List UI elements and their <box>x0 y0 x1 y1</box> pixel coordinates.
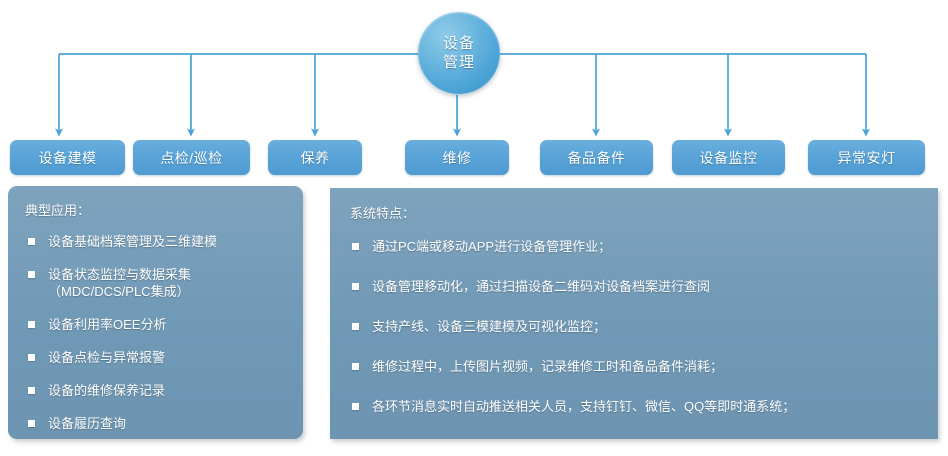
system-features-panel: 系统特点： 通过PC端或移动APP进行设备管理作业； 设备管理移动化，通过扫描设… <box>330 188 938 439</box>
list-item-label: 设备基础档案管理及三维建模 <box>48 233 217 250</box>
list-item-label: 设备管理移动化，通过扫描设备二维码对设备档案进行查阅 <box>372 278 710 295</box>
list-item-label: 设备点检与异常报警 <box>48 349 165 366</box>
list-item-label: 通过PC端或移动APP进行设备管理作业； <box>372 238 611 255</box>
list-item: 设备点检与异常报警 <box>20 349 291 366</box>
module-box-equipment-modeling[interactable]: 设备建模 <box>10 140 125 175</box>
module-label: 设备建模 <box>39 148 97 168</box>
list-item-label: 维修过程中，上传图片视频，记录维修工时和备品备件消耗； <box>372 358 723 375</box>
hub-label-line-1: 设备 <box>443 34 475 53</box>
square-bullet-icon <box>28 271 35 278</box>
module-box-maintenance-upkeep[interactable]: 保养 <box>268 140 362 175</box>
module-label: 备品备件 <box>568 148 626 168</box>
square-bullet-icon <box>28 387 35 394</box>
module-box-spare-parts[interactable]: 备品备件 <box>540 140 653 175</box>
list-item: 各环节消息实时自动推送相关人员，支持钉钉、微信、QQ等即时通系统； <box>346 398 924 415</box>
module-box-inspection[interactable]: 点检/巡检 <box>133 140 250 175</box>
typical-applications-list: 设备基础档案管理及三维建模 设备状态监控与数据采集 （MDC/DCS/PLC集成… <box>20 233 291 432</box>
square-bullet-icon <box>352 243 359 250</box>
list-item-label: 设备的维修保养记录 <box>48 382 165 399</box>
module-label: 设备监控 <box>700 148 758 168</box>
list-item: 设备基础档案管理及三维建模 <box>20 233 291 250</box>
square-bullet-icon <box>28 321 35 328</box>
module-label: 异常安灯 <box>838 148 896 168</box>
module-label: 维修 <box>443 148 472 168</box>
list-item: 支持产线、设备三模建模及可视化监控； <box>346 318 924 335</box>
module-label: 点检/巡检 <box>160 148 222 168</box>
list-item: 设备状态监控与数据采集 （MDC/DCS/PLC集成） <box>20 266 291 300</box>
list-item-label: 设备利用率OEE分析 <box>48 316 166 333</box>
list-item-label: 各环节消息实时自动推送相关人员，支持钉钉、微信、QQ等即时通系统； <box>372 398 795 415</box>
square-bullet-icon <box>28 238 35 245</box>
list-item: 通过PC端或移动APP进行设备管理作业； <box>346 238 924 255</box>
hub-label-line-2: 管理 <box>443 53 475 72</box>
module-box-equipment-monitoring[interactable]: 设备监控 <box>672 140 785 175</box>
module-box-andon-alarm[interactable]: 异常安灯 <box>808 140 925 175</box>
list-item: 维修过程中，上传图片视频，记录维修工时和备品备件消耗； <box>346 358 924 375</box>
square-bullet-icon <box>352 283 359 290</box>
equipment-management-diagram: 设备 管理 设备建模 点检/巡检 保养 维修 备品备件 设备监控 异常安灯 典型… <box>0 0 948 456</box>
list-item: 设备履历查询 <box>20 415 291 432</box>
panel-title: 系统特点： <box>350 203 924 222</box>
square-bullet-icon <box>352 323 359 330</box>
square-bullet-icon <box>28 420 35 427</box>
system-features-list: 通过PC端或移动APP进行设备管理作业； 设备管理移动化，通过扫描设备二维码对设… <box>346 238 924 415</box>
module-box-repair[interactable]: 维修 <box>405 140 509 175</box>
list-item-label: 支持产线、设备三模建模及可视化监控； <box>372 318 606 335</box>
panel-title: 典型应用： <box>25 200 291 219</box>
typical-applications-panel: 典型应用： 设备基础档案管理及三维建模 设备状态监控与数据采集 （MDC/DCS… <box>8 186 303 439</box>
square-bullet-icon <box>28 354 35 361</box>
list-item: 设备利用率OEE分析 <box>20 316 291 333</box>
square-bullet-icon <box>352 403 359 410</box>
list-item: 设备的维修保养记录 <box>20 382 291 399</box>
square-bullet-icon <box>352 363 359 370</box>
module-label: 保养 <box>301 148 330 168</box>
list-item: 设备管理移动化，通过扫描设备二维码对设备档案进行查阅 <box>346 278 924 295</box>
hub-node-equipment-management[interactable]: 设备 管理 <box>418 12 500 94</box>
list-item-label: 设备状态监控与数据采集 （MDC/DCS/PLC集成） <box>48 266 191 300</box>
list-item-label: 设备履历查询 <box>48 415 126 432</box>
